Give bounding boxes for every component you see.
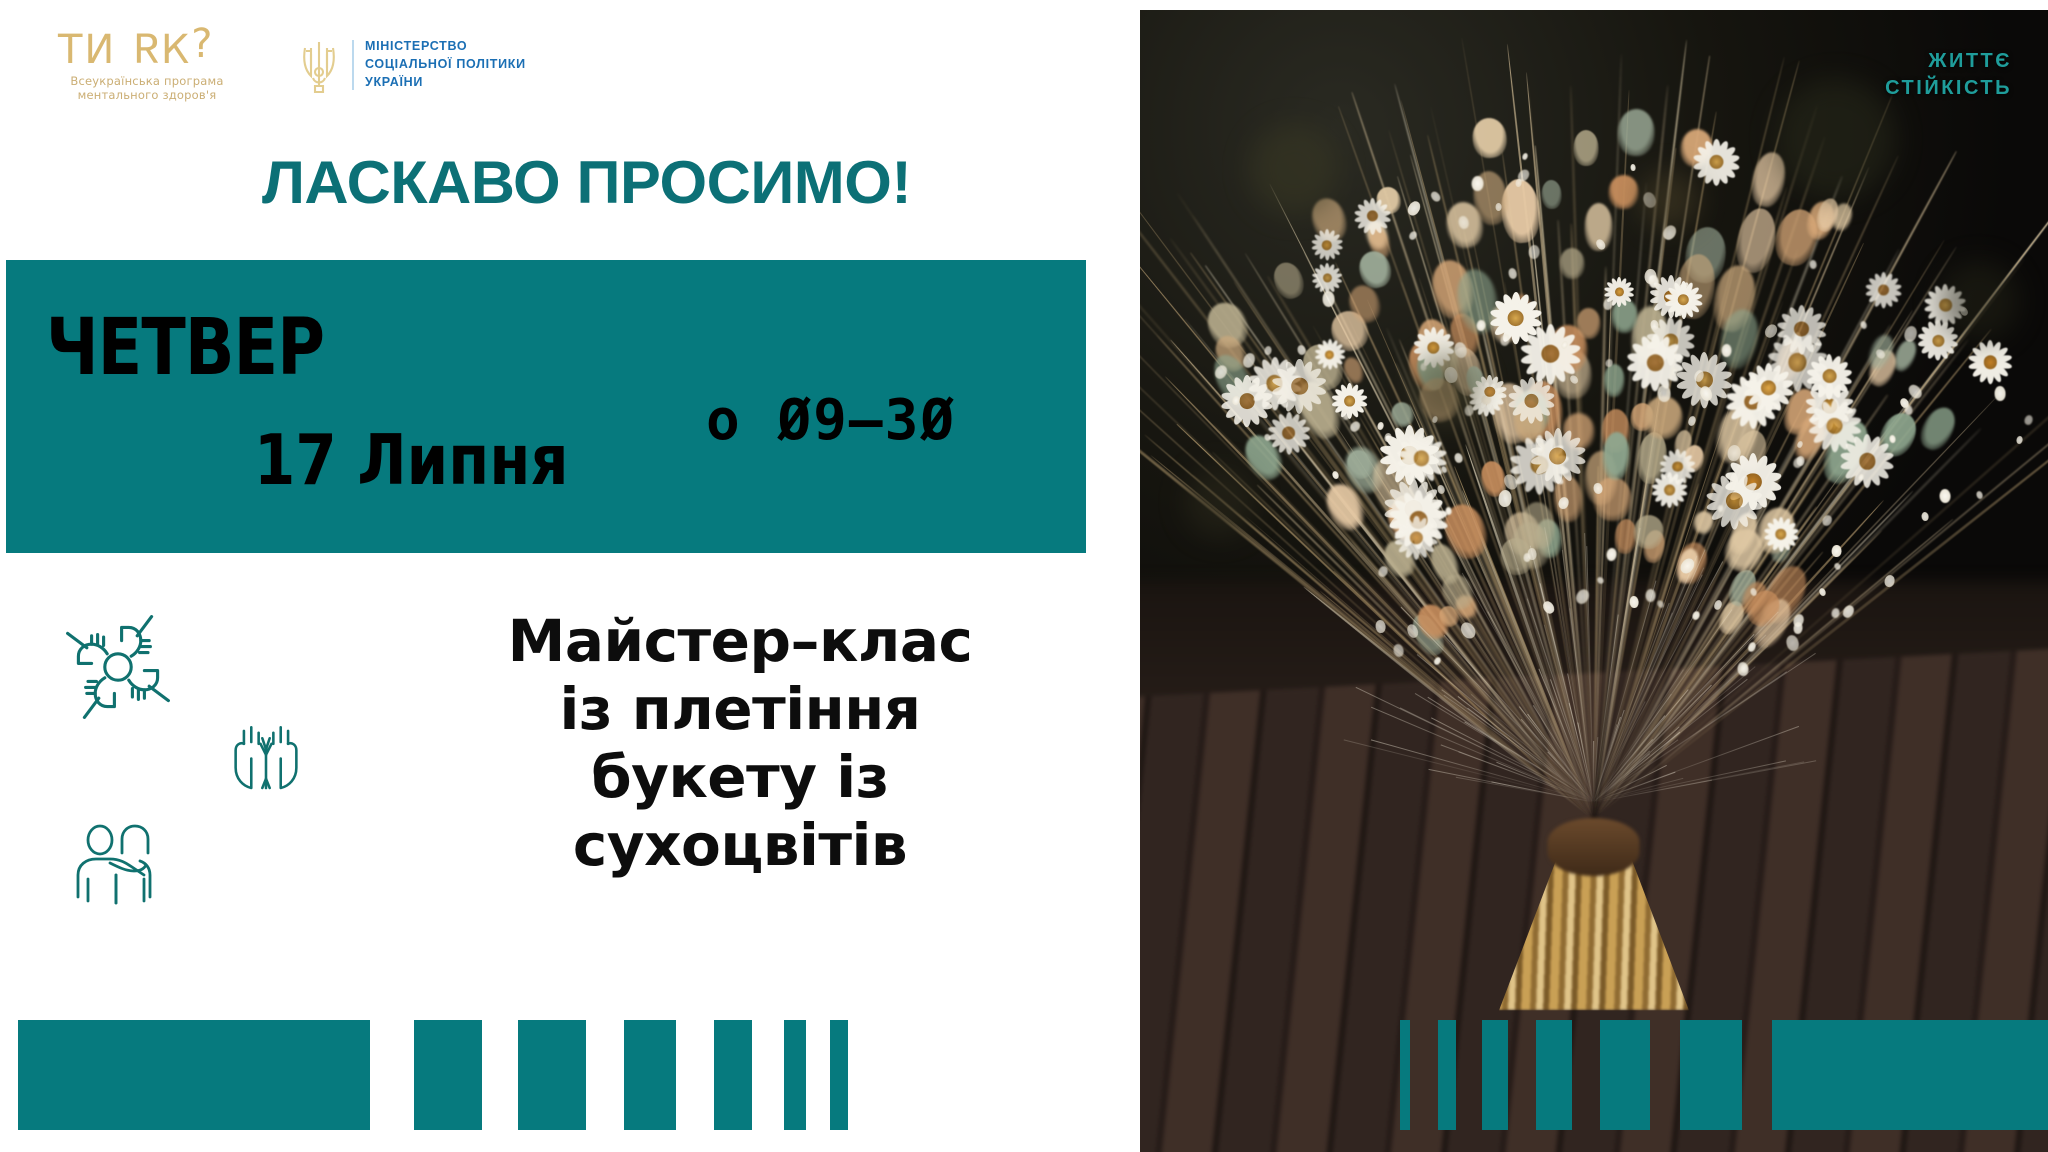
bunny-tail-grass (1608, 174, 1640, 209)
photo-caption: ЖИТТЄ СТІЙКІСТЬ (1885, 48, 2012, 102)
small-white-bud (1921, 511, 1929, 521)
event-date-band: ЧЕТВЕР 17 Липня о Ø9–3Ø (6, 260, 1086, 553)
small-white-bud (1495, 203, 1501, 211)
daisy-center (1344, 396, 1355, 407)
small-white-bud (1939, 488, 1951, 503)
hands-sprout-icon (220, 707, 312, 799)
program-logo-prefix: ТИ (58, 27, 131, 73)
dried-daisy-flower (1312, 263, 1342, 293)
decorative-bar (18, 1020, 370, 1130)
small-white-bud (1671, 367, 1677, 375)
two-people-support-icon (64, 813, 168, 913)
welcome-title: ЛАСКАВО ПРОСИМО! (262, 148, 911, 217)
daisy-center (1776, 529, 1787, 540)
small-white-bud (1528, 245, 1540, 260)
bouquet-photo-inner (1140, 10, 2048, 1152)
small-white-bud (1524, 553, 1531, 562)
daisy-center (1664, 484, 1675, 495)
event-time: о Ø9–3Ø (706, 388, 956, 453)
photo-caption-line-2: СТІЙКІСТЬ (1885, 77, 2012, 99)
left-content-column: ТИ ЯК? Всеукраїнська програма ментальног… (0, 0, 1100, 1152)
program-logo-mirrored-ya: Я (131, 30, 161, 70)
daisy-center (1282, 427, 1295, 440)
daisy-center (1322, 240, 1332, 250)
tryzub-icon (293, 34, 345, 96)
daisy-center (1508, 310, 1524, 326)
dried-daisy-flower (1665, 281, 1702, 318)
dried-daisy-flower (1268, 412, 1310, 454)
bunny-tail-grass (1617, 108, 1656, 157)
ministry-logo-text: МІНІСТЕРСТВО СОЦІАЛЬНОЇ ПОЛІТИКИ УКРАЇНИ (365, 38, 526, 91)
small-white-bud (1818, 588, 1827, 598)
small-white-bud (1629, 596, 1639, 608)
dried-daisy-flower (1777, 305, 1826, 354)
decorative-bar (624, 1020, 676, 1130)
program-logo-k: К (161, 27, 191, 73)
dried-daisy-flower (1273, 359, 1327, 413)
photo-bokeh (1939, 261, 2019, 341)
daisy-center (1549, 447, 1566, 464)
event-date: 17 Липня (254, 420, 569, 501)
event-day-name: ЧЕТВЕР (46, 302, 324, 393)
dried-daisy-flower (1490, 293, 1541, 344)
program-logo-tagline: Всеукраїнська програма ментального здоро… (58, 74, 236, 103)
small-white-bud (1657, 385, 1671, 402)
dried-daisy-flower (1866, 273, 1902, 309)
decorative-bars-left (18, 1020, 848, 1130)
ministry-line-1: МІНІСТЕРСТВО (365, 39, 467, 53)
decorative-bar (1536, 1020, 1572, 1130)
headline-line-3: букету із (420, 744, 1060, 812)
bunny-tail-grass (1603, 363, 1625, 397)
dried-daisy-flower (1354, 198, 1390, 234)
dried-daisy-flower (1809, 400, 1861, 452)
decorative-bar (1438, 1020, 1456, 1130)
decorative-bar (714, 1020, 752, 1130)
bunny-tail-grass (1915, 402, 1962, 455)
decorative-bar (1600, 1020, 1650, 1130)
dried-daisy-flower (1694, 139, 1740, 185)
small-white-bud (1809, 260, 1817, 269)
small-white-bud (1264, 345, 1272, 355)
tagline-line-1: Всеукраїнська програма (70, 74, 223, 88)
ministry-logo: МІНІСТЕРСТВО СОЦІАЛЬНОЇ ПОЛІТИКИ УКРАЇНИ (293, 34, 526, 96)
decorative-bar (1400, 1020, 1410, 1130)
small-white-bud (1499, 333, 1511, 347)
dried-daisy-flower (1530, 429, 1585, 484)
dried-daisy-flower (1509, 378, 1555, 424)
small-white-bud (1322, 291, 1334, 307)
bunny-tail-grass (1559, 248, 1585, 279)
decorative-bar (1680, 1020, 1742, 1130)
dried-daisy-flower (1395, 516, 1438, 559)
dried-daisy-flower (1627, 334, 1683, 390)
tagline-line-2: ментального здоров'я (78, 88, 217, 102)
photo-bokeh (1249, 124, 1339, 214)
small-white-bud (1521, 152, 1528, 160)
decorative-bar (784, 1020, 806, 1130)
decorative-bar (518, 1020, 586, 1130)
small-white-bud (1630, 163, 1636, 170)
bunny-tail-grass (1541, 179, 1562, 209)
decorative-bar (414, 1020, 482, 1130)
event-headline: Майстер–клас із плетіння букету із сухоц… (420, 608, 1060, 879)
small-white-bud (1445, 507, 1452, 515)
headline-line-4: сухоцвітів (420, 812, 1060, 880)
dried-daisy-flower (1764, 517, 1798, 551)
small-white-bud (1453, 452, 1463, 464)
four-hands-unity-icon (58, 607, 178, 727)
logo-divider (352, 40, 354, 90)
program-logo-wordmark: ТИ ЯК? (58, 30, 238, 70)
daisy-center (1672, 461, 1683, 472)
twine-tie (1548, 818, 1640, 876)
decorative-icon-group (40, 595, 340, 935)
logo-row: ТИ ЯК? Всеукраїнська програма ментальног… (48, 28, 568, 118)
daisy-center (1677, 294, 1689, 306)
ministry-line-3: УКРАЇНИ (365, 75, 423, 89)
program-logo: ТИ ЯК? Всеукраїнська програма ментальног… (58, 30, 238, 103)
dried-daisy-flower (1397, 434, 1446, 483)
headline-line-1: Майстер–клас (420, 608, 1060, 676)
decorative-bar (830, 1020, 848, 1130)
bunny-tail-grass (1269, 258, 1309, 302)
photo-bokeh (1185, 467, 1255, 537)
dried-daisy-flower (1969, 341, 2012, 384)
poster-canvas: ТИ ЯК? Всеукраїнська програма ментальног… (0, 0, 2048, 1152)
decorative-bars-right (1400, 1020, 2048, 1130)
dried-daisy-flower (1706, 473, 1762, 529)
daisy-center (1484, 387, 1495, 398)
daisy-center (1878, 285, 1889, 296)
photo-bokeh (1412, 353, 1482, 423)
dried-daisy-flower (1660, 449, 1695, 484)
decorative-bar (1482, 1020, 1508, 1130)
photo-caption-line-1: ЖИТТЄ (1928, 50, 2012, 72)
headline-line-2: із плетіння (420, 676, 1060, 744)
bunny-tail-grass (1574, 130, 1600, 166)
small-white-bud (1832, 545, 1842, 558)
small-white-bud (1342, 410, 1350, 420)
bouquet-photo: ЖИТТЄ СТІЙКІСТЬ (1140, 10, 2048, 1152)
photo-bokeh (1639, 170, 1699, 230)
decorative-bar (1772, 1020, 2048, 1130)
question-mark-icon: ? (191, 24, 214, 64)
daisy-center (1291, 378, 1308, 395)
dried-daisy-flower (1311, 230, 1342, 261)
ministry-line-2: СОЦІАЛЬНОЇ ПОЛІТИКИ (365, 57, 526, 71)
photo-bokeh (1776, 79, 1896, 199)
